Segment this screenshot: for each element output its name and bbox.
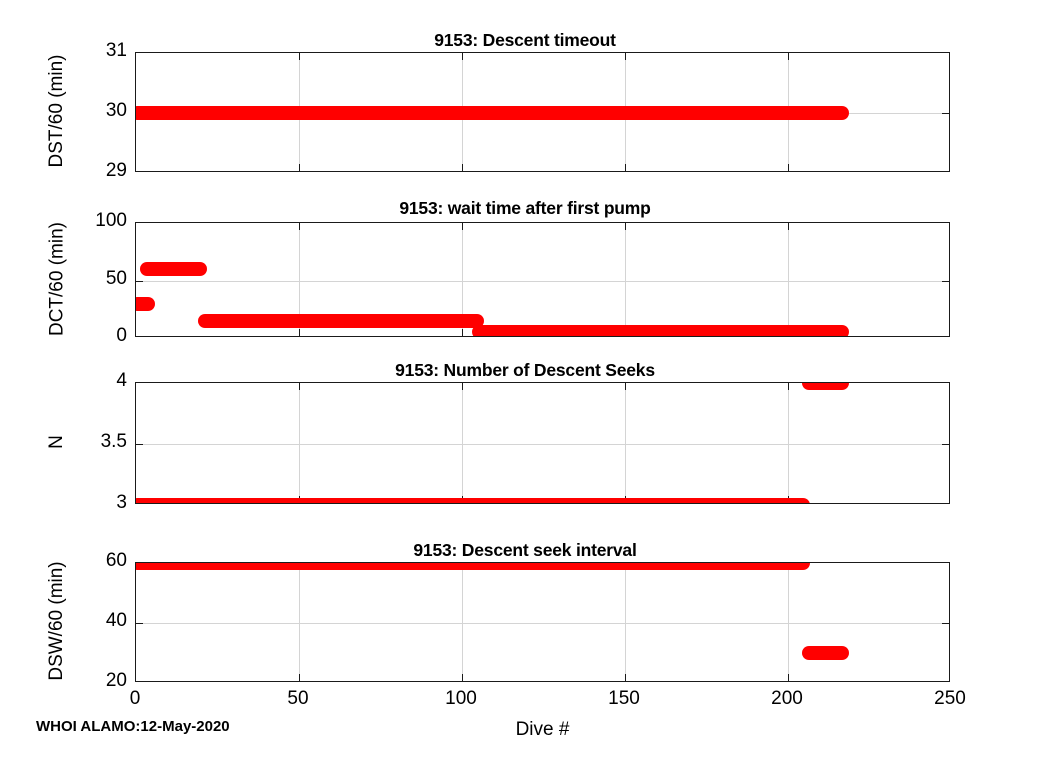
x-tick-mark [299, 223, 300, 230]
x-tick-mark [625, 53, 626, 60]
panel-title-4: 9153: Descent seek interval [0, 540, 1050, 561]
plot-axes-2 [135, 222, 950, 337]
gridline-vertical [462, 563, 463, 681]
data-marker-run [198, 314, 484, 328]
gridline-vertical [788, 563, 789, 681]
x-tick-mark [462, 164, 463, 171]
plot-axes-1 [135, 52, 950, 172]
x-tick-label: 0 [95, 688, 175, 710]
data-marker-run [135, 106, 849, 120]
plot-axes-3 [135, 382, 950, 504]
x-tick-label: 150 [584, 688, 664, 710]
gridline-vertical [625, 383, 626, 503]
data-marker-run [140, 262, 207, 276]
x-tick-mark [788, 53, 789, 60]
x-tick-mark [299, 53, 300, 60]
x-tick-mark [625, 164, 626, 171]
data-marker-run [802, 646, 850, 660]
x-tick-label: 250 [910, 688, 990, 710]
x-tick-mark [299, 674, 300, 681]
x-tick-mark [788, 383, 789, 390]
data-marker-run [472, 325, 849, 337]
data-marker-run [135, 297, 155, 311]
x-tick-mark [462, 674, 463, 681]
gridline-horizontal [136, 444, 949, 445]
footer-caption: WHOI ALAMO:12-May-2020 [36, 718, 230, 735]
x-tick-mark [299, 383, 300, 390]
figure-canvas: 9153: Descent timeout293031DST/60 (min)9… [0, 0, 1050, 750]
y-tick-mark [942, 623, 949, 624]
gridline-vertical [788, 223, 789, 336]
x-tick-mark [625, 223, 626, 230]
gridline-vertical [299, 563, 300, 681]
x-tick-mark [625, 383, 626, 390]
data-marker-run [802, 382, 850, 390]
x-tick-label: 200 [747, 688, 827, 710]
x-tick-mark [462, 329, 463, 336]
x-tick-label: 100 [421, 688, 501, 710]
data-marker-run [135, 498, 810, 504]
x-axis-label: Dive # [135, 719, 950, 741]
panel-title-3: 9153: Number of Descent Seeks [0, 360, 1050, 381]
gridline-vertical [625, 563, 626, 681]
gridline-vertical [625, 223, 626, 336]
plot-axes-4 [135, 562, 950, 682]
gridline-horizontal [136, 281, 949, 282]
x-tick-label: 50 [258, 688, 338, 710]
x-tick-mark [462, 53, 463, 60]
y-tick-mark [942, 444, 949, 445]
panel-title-2: 9153: wait time after first pump [0, 198, 1050, 219]
x-tick-mark [788, 223, 789, 230]
gridline-vertical [788, 383, 789, 503]
x-tick-mark [299, 329, 300, 336]
gridline-vertical [462, 383, 463, 503]
data-marker-run [135, 562, 810, 570]
gridline-horizontal [136, 623, 949, 624]
x-tick-mark [462, 223, 463, 230]
y-tick-mark [942, 113, 949, 114]
x-tick-mark [462, 383, 463, 390]
x-tick-mark [299, 164, 300, 171]
x-tick-mark [625, 674, 626, 681]
panel-title-1: 9153: Descent timeout [0, 30, 1050, 51]
x-tick-mark [788, 164, 789, 171]
y-tick-mark [136, 444, 143, 445]
x-tick-mark [788, 674, 789, 681]
gridline-vertical [299, 383, 300, 503]
y-tick-mark [136, 281, 143, 282]
y-tick-mark [942, 281, 949, 282]
y-tick-mark [136, 623, 143, 624]
